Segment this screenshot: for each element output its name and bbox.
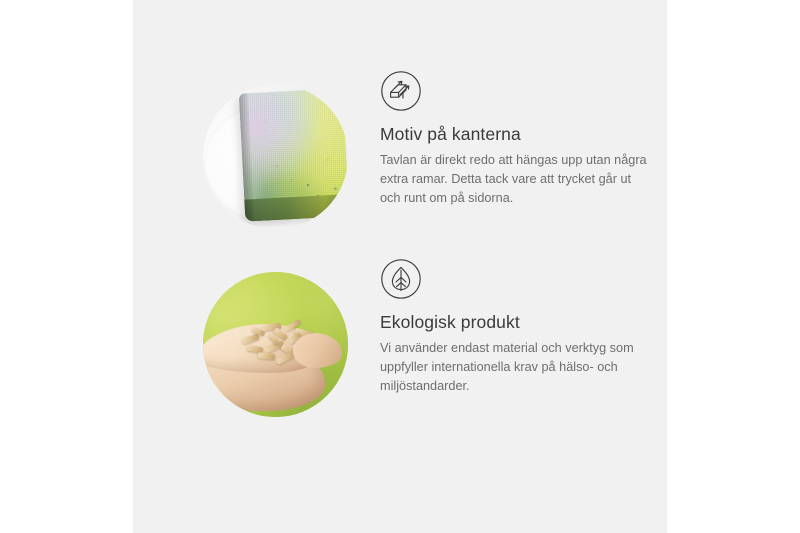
content-panel: Motiv på kanterna Tavlan är direkt redo …	[133, 0, 667, 533]
leaf-icon	[380, 258, 422, 300]
feature-body-edges: Tavlan är direkt redo att hängas upp uta…	[380, 151, 648, 207]
canvas-print-corner	[239, 89, 348, 222]
feature-title-eco: Ekologisk produkt	[380, 312, 658, 333]
product-info-graphic: Motiv på kanterna Tavlan är direkt redo …	[0, 0, 800, 533]
feature-block-edges: Motiv på kanterna Tavlan är direkt redo …	[133, 70, 667, 260]
hands-with-wood-chips-photo	[203, 272, 348, 417]
feature-text-eco: Ekologisk produkt Vi använder endast mat…	[380, 258, 658, 395]
feature-block-eco: Ekologisk produkt Vi använder endast mat…	[133, 258, 667, 448]
feature-body-eco: Vi använder endast material och verktyg …	[380, 339, 648, 395]
fingers	[293, 333, 342, 368]
feature-title-edges: Motiv på kanterna	[380, 124, 658, 145]
canvas-wrapped-edge	[244, 194, 348, 221]
canvas-photo-scene	[203, 84, 348, 229]
canvas-corner-photo	[203, 84, 348, 229]
feature-text-edges: Motiv på kanterna Tavlan är direkt redo …	[380, 70, 658, 207]
canvas-wrapped-edges-icon	[380, 70, 422, 112]
eco-photo-scene	[203, 272, 348, 417]
